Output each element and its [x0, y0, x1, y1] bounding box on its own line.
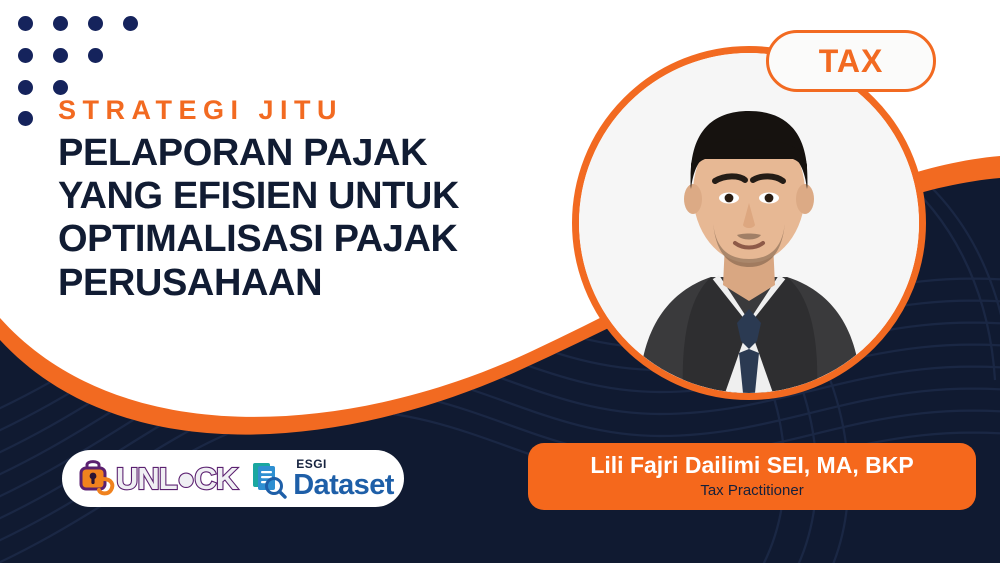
unlock-wordmark-text: UNL●CK: [116, 461, 237, 496]
poster-canvas: STRATEGI JITU PELAPORAN PAJAK YANG EFISI…: [0, 0, 1000, 563]
speaker-name: Lili Fajri Dailimi SEI, MA, BKP: [590, 453, 913, 478]
esgi-label: ESGI: [296, 458, 394, 470]
logo-bar: UNL●CK ESGI Dataset: [62, 450, 404, 507]
speaker-portrait: [572, 46, 926, 400]
title-line-1: PELAPORAN PAJAK: [58, 132, 578, 175]
dot: [53, 16, 68, 31]
headline-block: STRATEGI JITU PELAPORAN PAJAK YANG EFISI…: [58, 96, 578, 305]
title-line-3: OPTIMALISASI PAJAK: [58, 218, 578, 261]
portrait-ring: [572, 46, 926, 400]
dot: [18, 111, 33, 126]
dataset-label: Dataset: [293, 471, 394, 500]
portrait-illustration: [579, 53, 919, 393]
speaker-role: Tax Practitioner: [700, 482, 803, 500]
dot: [53, 80, 68, 95]
title-line-4: PERUSAHAAN: [58, 262, 578, 305]
title-line-2: YANG EFISIEN UNTUK: [58, 175, 578, 218]
dot: [88, 48, 103, 63]
speaker-name-bar: Lili Fajri Dailimi SEI, MA, BKP Tax Prac…: [528, 443, 976, 510]
dot: [18, 16, 33, 31]
tax-badge: TAX: [766, 30, 936, 92]
dot: [88, 16, 103, 31]
headline-kicker: STRATEGI JITU: [58, 96, 578, 126]
dot: [53, 48, 68, 63]
unlock-wordmark: UNL●CK: [116, 463, 237, 494]
dot: [18, 80, 33, 95]
unlock-logo: UNL●CK: [78, 459, 237, 499]
dot: [123, 16, 138, 31]
page-title: PELAPORAN PAJAK YANG EFISIEN UNTUK OPTIM…: [58, 132, 578, 305]
document-magnifier-icon: [249, 459, 289, 499]
portrait-photo: [579, 53, 919, 393]
esgi-dataset-logo: ESGI Dataset: [249, 458, 394, 500]
dot: [18, 48, 33, 63]
tax-badge-label: TAX: [819, 43, 884, 80]
esgi-dataset-text: ESGI Dataset: [293, 458, 394, 500]
